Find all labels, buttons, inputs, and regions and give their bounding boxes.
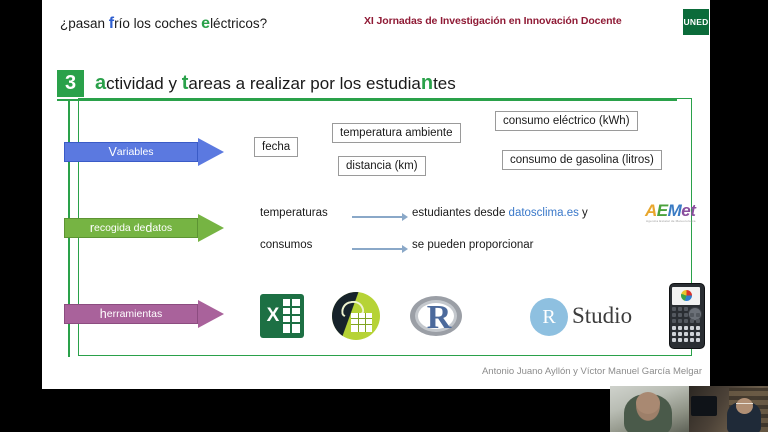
variable-box-consumo-gasolina: consumo de gasolina (litros) (502, 150, 662, 170)
calculator-key-row-1 (672, 307, 700, 312)
participant-2-monitor (691, 396, 717, 416)
data-collection-arrow-label: recogida de datos (64, 218, 198, 238)
section-title: actividad y tareas a realizar por los es… (95, 72, 456, 95)
conference-title: XI Jornadas de Investigación en Innovaci… (364, 15, 622, 27)
graphing-calculator-icon (669, 283, 703, 347)
section-title-seg-2: ctividad y (106, 74, 182, 93)
tools-label-lead: h (100, 307, 107, 321)
webcam-strip (610, 386, 768, 432)
section-title-seg-5: n (421, 72, 433, 94)
data-target-temperaturas: estudiantes desde datosclima.es y (412, 207, 588, 219)
aemet-letters-et: et (681, 201, 695, 220)
calculator-key-row-5 (672, 332, 700, 337)
presentation-title: ¿pasan frío los coches eléctricos? (60, 15, 267, 33)
slide-header: ¿pasan frío los coches eléctricos? XI Jo… (42, 0, 710, 46)
data-target-1-prefix: estudiantes desde (412, 207, 509, 219)
presentation-title-seg-4: e (201, 15, 210, 32)
section-number-badge: 3 (57, 70, 84, 97)
data-source-consumos: consumos (260, 239, 312, 251)
connector-arrow-2 (352, 244, 408, 254)
rstudio-icon-letter: R (530, 298, 568, 336)
tools-arrow: herramientas (64, 300, 224, 328)
variables-arrow-head (198, 138, 224, 166)
calc-icon-sheet (351, 313, 372, 332)
datosclima-link[interactable]: datosclima.es (509, 207, 579, 219)
author-credit: Antonio Juano Ayllón y Víctor Manuel Gar… (412, 366, 702, 377)
excel-icon-letter: X (264, 305, 282, 327)
section-title-seg-6: tes (433, 74, 456, 93)
calculator-key-row-4 (672, 326, 700, 331)
uned-logo: UNED (683, 9, 709, 35)
aemet-subtitle: Agencia Estatal de Meteorología (646, 219, 696, 223)
calculator-key-row-6 (672, 338, 700, 343)
participant-1-head (636, 392, 660, 414)
data-collection-arrow: recogida de datos (64, 214, 224, 242)
presentation-title-seg-5: léctricos? (210, 16, 267, 31)
data-collection-label-lead2: d (145, 221, 152, 235)
rstudio-wordmark: Studio (572, 303, 632, 329)
calculator-pie-chart (681, 290, 692, 301)
connector-arrow-1 (352, 212, 408, 222)
data-source-temperaturas: temperaturas (260, 207, 328, 219)
tools-label-rest: erramientas (107, 308, 162, 320)
calculator-key-row-2 (672, 313, 700, 318)
aemet-logo: AEMet Agencia Estatal de Meteorología (645, 201, 711, 229)
connector-tip-1 (402, 213, 408, 221)
variables-label-rest: ariables (117, 146, 154, 158)
presentation-title-seg-1: ¿pasan (60, 16, 109, 31)
variable-box-consumo-electrico: consumo eléctrico (kWh) (495, 111, 638, 131)
data-collection-label-rest: atos (152, 222, 172, 234)
excel-icon-grid (283, 299, 300, 333)
data-collection-arrow-head (198, 214, 224, 242)
variables-label-lead: V (108, 145, 116, 159)
connector-line-1 (352, 216, 402, 218)
aemet-letter-a: A (645, 201, 657, 220)
r-logo-letter: R (424, 298, 454, 338)
aemet-wordmark: AEMet (645, 201, 695, 221)
variable-box-fecha: fecha (254, 137, 298, 157)
data-target-consumos: se pueden proporcionar (412, 239, 533, 251)
tools-arrow-label: herramientas (64, 304, 198, 324)
data-target-1-suffix: y (579, 207, 588, 219)
libreoffice-calc-icon (332, 292, 380, 340)
rstudio-icon-circle: R (530, 298, 568, 336)
presentation-slide: ¿pasan frío los coches eléctricos? XI Jo… (42, 0, 710, 389)
data-collection-label-mid: ecogida de (94, 222, 145, 234)
connector-tip-2 (402, 245, 408, 253)
variable-box-distancia: distancia (km) (338, 156, 426, 176)
section-title-seg-1: a (95, 72, 106, 94)
tools-arrow-head (198, 300, 224, 328)
rstudio-logo-icon: R Studio (530, 296, 650, 338)
screen-recording-frame: ¿pasan frío los coches eléctricos? XI Jo… (0, 0, 768, 432)
webcam-participant-1[interactable] (610, 386, 689, 432)
r-logo-icon: R (410, 296, 462, 338)
variables-arrow: Variables (64, 138, 224, 166)
connector-line-2 (352, 248, 402, 250)
aemet-letter-m: M (668, 201, 682, 220)
variables-arrow-label: Variables (64, 142, 198, 162)
section-title-seg-4: areas a realizar por los estudia (188, 74, 420, 93)
participant-2-glasses (736, 403, 753, 408)
calculator-key-row-3 (672, 319, 700, 324)
presentation-title-seg-3: río los coches (114, 16, 201, 31)
aemet-letter-e: E (657, 201, 668, 220)
excel-icon: X (260, 294, 304, 338)
calculator-screen (672, 287, 700, 305)
webcam-participant-2[interactable] (689, 386, 768, 432)
variable-box-temperatura: temperatura ambiente (332, 123, 461, 143)
